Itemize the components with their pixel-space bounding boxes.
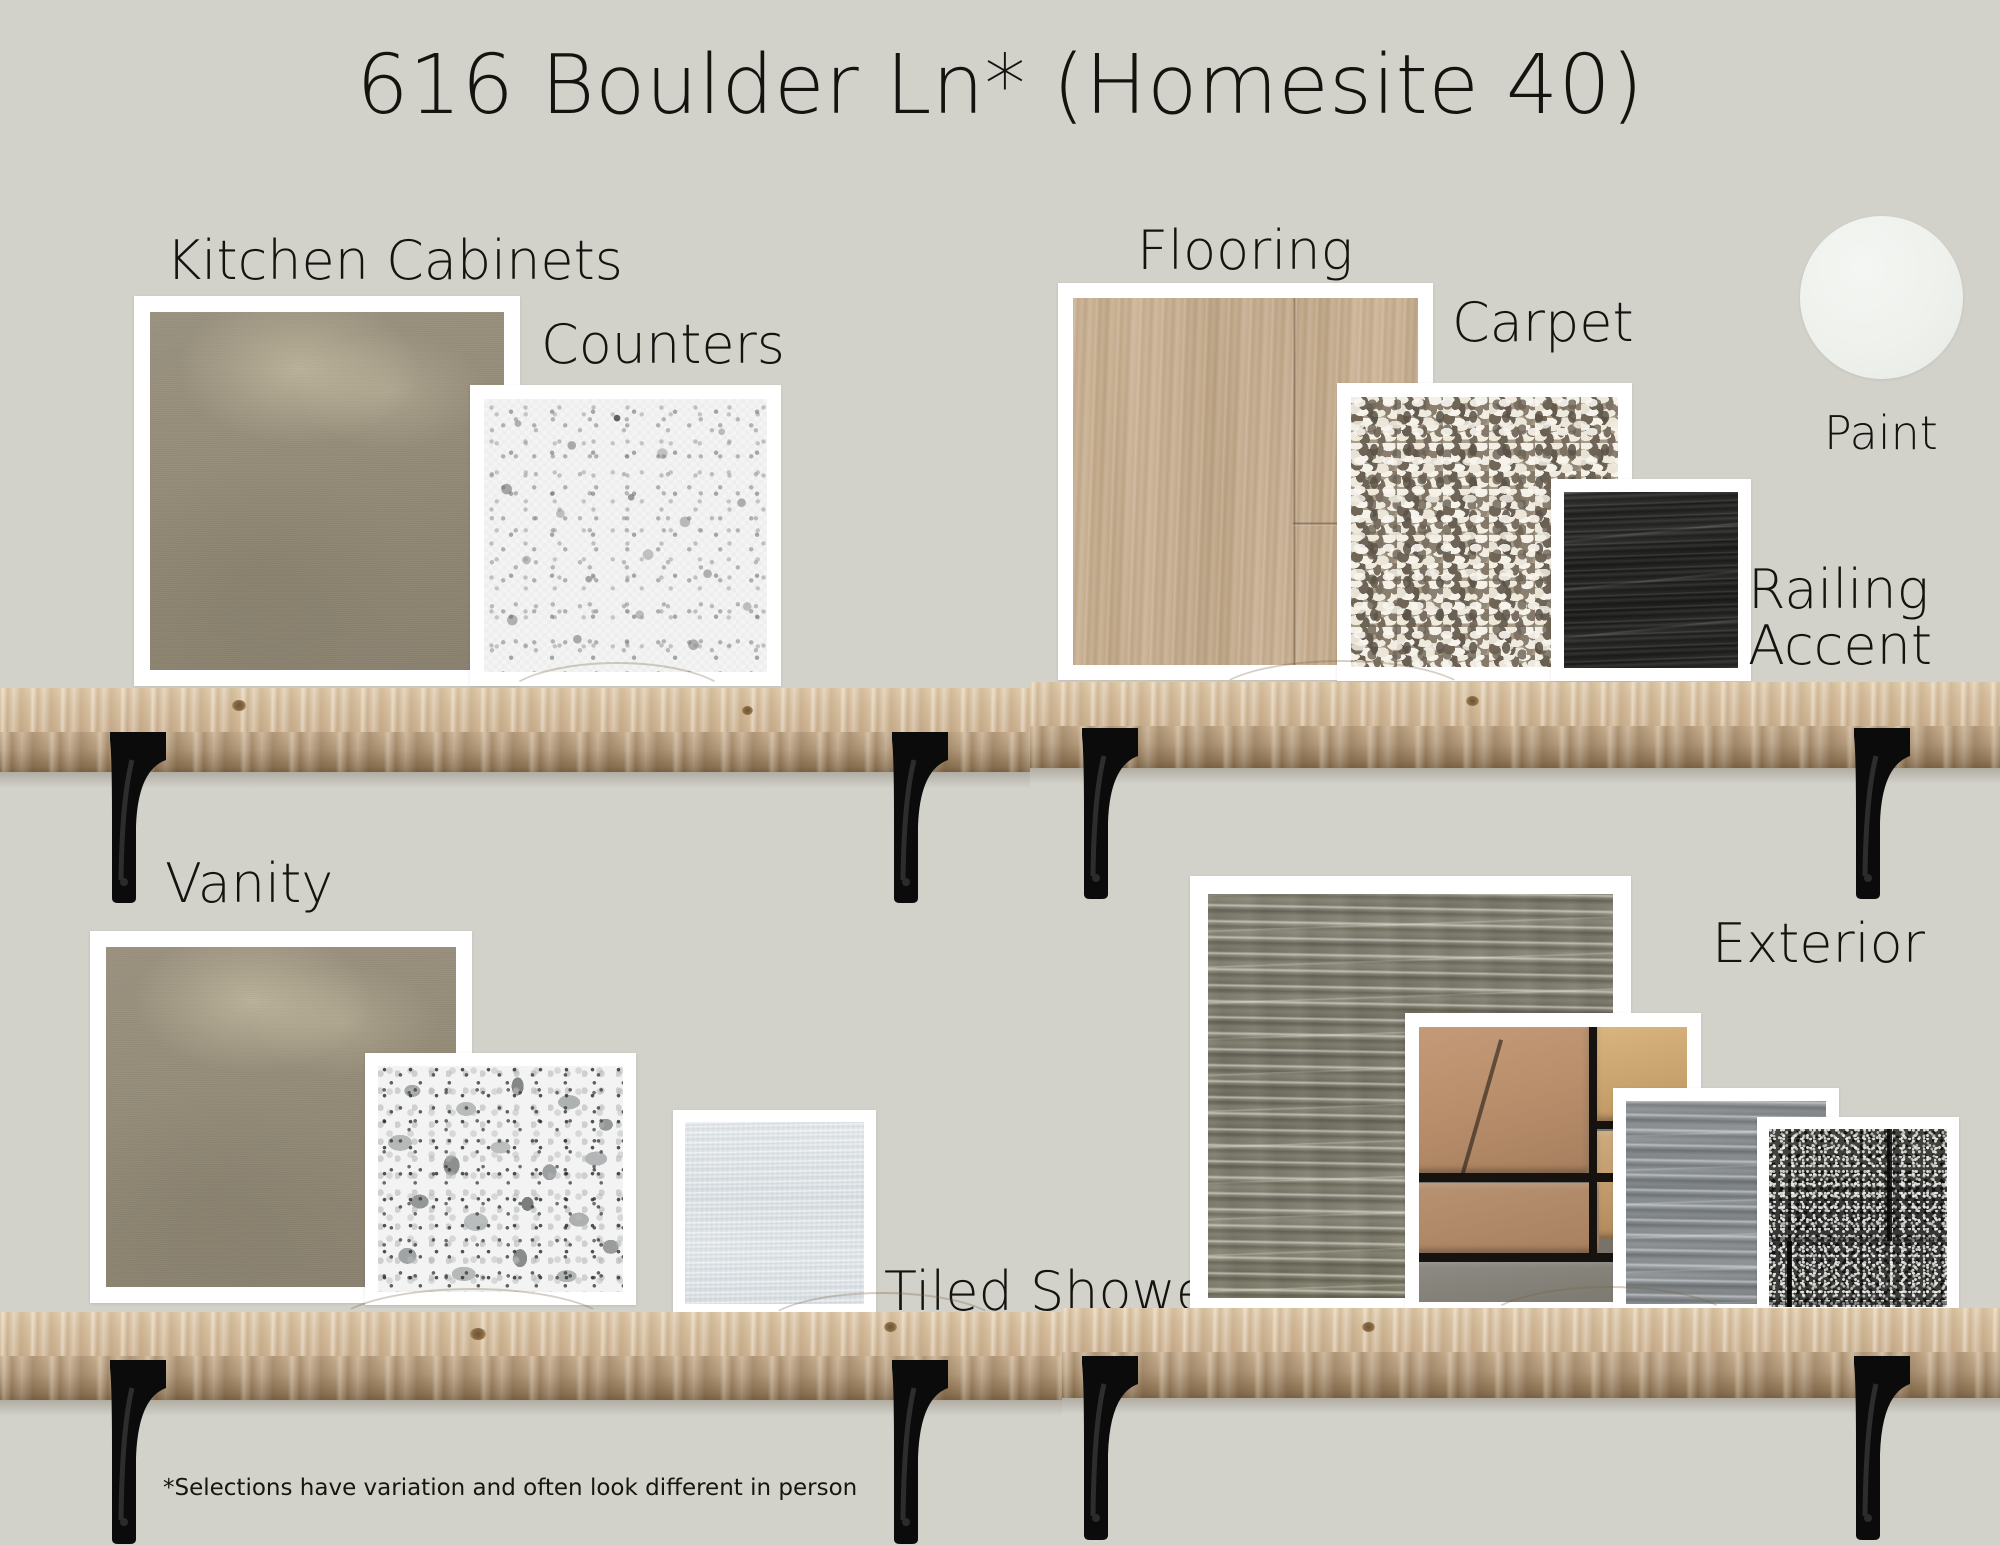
shelf-bracket	[1080, 1354, 1140, 1542]
swatch-tiled-shower[interactable]	[673, 1110, 876, 1316]
label-counters: Counters	[541, 317, 785, 373]
material-railing-stain	[1564, 492, 1738, 668]
swatch-counters[interactable]	[470, 385, 781, 686]
shelf-bracket	[1080, 726, 1140, 901]
wood-grain-arc	[760, 1292, 1004, 1368]
wood-knot	[1362, 1322, 1375, 1332]
label-railing-accent-line1: Railing	[1748, 558, 1929, 621]
shingle-cut	[1787, 1241, 1792, 1307]
material-vanity-quartz	[378, 1066, 623, 1292]
wood-grain-arc	[1482, 1286, 1736, 1364]
shelf-bracket	[1852, 1354, 1912, 1542]
material-counter-quartz	[484, 399, 767, 672]
swatch-roof-shingle[interactable]	[1757, 1117, 1959, 1319]
shingle-cut	[1887, 1129, 1892, 1241]
shelf-bracket	[890, 730, 950, 905]
shelf-top-surface	[1030, 682, 2000, 726]
swatch-vanity-top[interactable]	[365, 1053, 636, 1305]
wood-grain-arc	[330, 1288, 614, 1372]
shelf-bracket	[108, 1358, 168, 1545]
shingle-cut	[1769, 1237, 1947, 1241]
label-paint: Paint	[1824, 410, 1938, 458]
label-flooring: Flooring	[1137, 223, 1353, 279]
label-railing-accent-line2: Accent	[1748, 614, 1932, 677]
wood-knot	[232, 700, 246, 711]
stone-unit	[1419, 1027, 1589, 1173]
shingle-cut	[1769, 1301, 1947, 1305]
label-carpet: Carpet	[1452, 295, 1634, 351]
disclaimer-footnote: *Selections have variation and often loo…	[163, 1475, 857, 1501]
material-kitchen-cabinet-finish	[150, 312, 504, 670]
label-kitchen-cabinets: Kitchen Cabinets	[166, 233, 623, 289]
stone-unit	[1419, 1183, 1599, 1253]
shelf-bracket	[108, 730, 168, 905]
swatch-kitchen-cabinets[interactable]	[134, 296, 520, 686]
page-title: 616 Boulder Ln* (Homesite 40)	[0, 38, 2000, 133]
wood-grain-arc	[500, 662, 734, 744]
label-exterior: Exterior	[1712, 916, 1925, 972]
wood-grain-arc	[1210, 660, 1474, 740]
wood-knot	[742, 706, 753, 715]
swatch-paint[interactable]	[1800, 216, 1963, 379]
shelf-bracket	[1852, 726, 1912, 901]
label-railing-accent: Railing Accent	[1748, 562, 1988, 674]
material-roof-shingle	[1769, 1129, 1947, 1307]
design-selections-board: 616 Boulder Ln* (Homesite 40) Kitchen Ca…	[0, 0, 2000, 1545]
swatch-railing-accent[interactable]	[1551, 479, 1751, 681]
label-vanity: Vanity	[165, 856, 333, 912]
stone-grout-line	[1589, 1027, 1597, 1253]
material-shower-tile	[685, 1122, 864, 1304]
shelf-bracket	[890, 1358, 950, 1545]
